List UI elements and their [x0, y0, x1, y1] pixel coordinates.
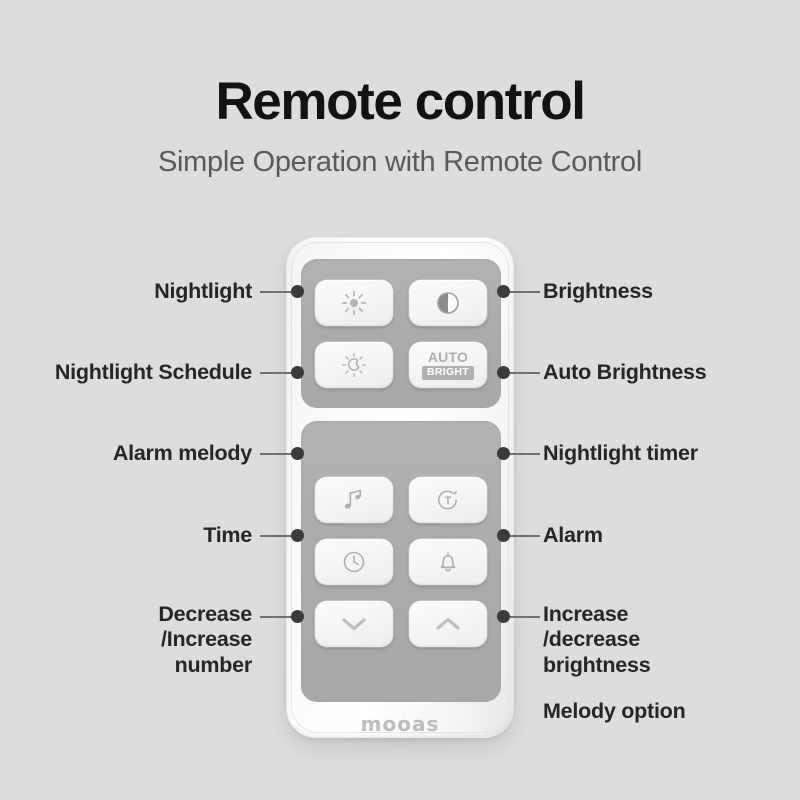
sun-moon-icon: [341, 352, 367, 378]
page-subtitle: Simple Operation with Remote Control: [0, 130, 800, 179]
button-alarm[interactable]: [409, 539, 487, 585]
contrast-circle-icon: [435, 290, 461, 316]
callout-label-brightness: Brightness: [543, 279, 798, 304]
clock-icon: [341, 549, 367, 575]
timer-t-icon: T: [435, 487, 461, 513]
button-brightness[interactable]: [409, 280, 487, 326]
callout-label-decrease-increase-number: Decrease /Increase number: [0, 602, 252, 678]
svg-text:T: T: [445, 495, 452, 507]
callout-dot-nightlight-timer: [497, 447, 510, 460]
music-note-icon: [341, 487, 367, 513]
page-title: Remote control: [0, 0, 800, 130]
callout-label-melody-option: Melody option: [543, 699, 798, 724]
button-nightlight-timer[interactable]: T: [409, 477, 487, 523]
callout-dot-auto-brightness: [497, 366, 510, 379]
callout-dot-brightness: [497, 285, 510, 298]
remote-control-body: AUTO BRIGHT T: [286, 237, 514, 738]
button-increase[interactable]: [409, 601, 487, 647]
auto-label: AUTO: [428, 350, 468, 364]
button-nightlight[interactable]: [315, 280, 393, 326]
callout-label-auto-brightness: Auto Brightness: [543, 360, 798, 385]
callout-label-alarm: Alarm: [543, 523, 798, 548]
callout-label-increase-decrease-brightness: Increase /decrease brightness: [543, 602, 798, 678]
chevron-down-icon: [339, 614, 369, 634]
keypad-main: T: [301, 421, 501, 702]
header: Remote control Simple Operation with Rem…: [0, 0, 800, 179]
sun-icon: [341, 290, 367, 316]
callout-dot-alarm-melody: [291, 447, 304, 460]
chevron-up-icon: [433, 614, 463, 634]
callout-dot-decrease: [291, 610, 304, 623]
button-alarm-melody[interactable]: [315, 477, 393, 523]
keypad-top: AUTO BRIGHT: [301, 259, 501, 408]
auto-bright-text-icon: AUTO BRIGHT: [422, 350, 474, 380]
callout-dot-nightlight-schedule: [291, 366, 304, 379]
bell-icon: [435, 549, 461, 575]
callout-label-alarm-melody: Alarm melody: [0, 441, 252, 466]
callout-dot-increase: [497, 610, 510, 623]
callout-label-nightlight: Nightlight: [0, 279, 252, 304]
brand-logo: mooas: [287, 712, 513, 736]
bright-badge: BRIGHT: [422, 366, 474, 380]
callout-dot-time: [291, 529, 304, 542]
button-nightlight-schedule[interactable]: [315, 342, 393, 388]
callout-label-nightlight-timer: Nightlight timer: [543, 441, 798, 466]
callout-label-nightlight-schedule: Nightlight Schedule: [0, 360, 252, 385]
button-time[interactable]: [315, 539, 393, 585]
button-decrease[interactable]: [315, 601, 393, 647]
callout-label-time: Time: [0, 523, 252, 548]
callout-dot-alarm: [497, 529, 510, 542]
button-auto-brightness[interactable]: AUTO BRIGHT: [409, 342, 487, 388]
callout-dot-nightlight: [291, 285, 304, 298]
